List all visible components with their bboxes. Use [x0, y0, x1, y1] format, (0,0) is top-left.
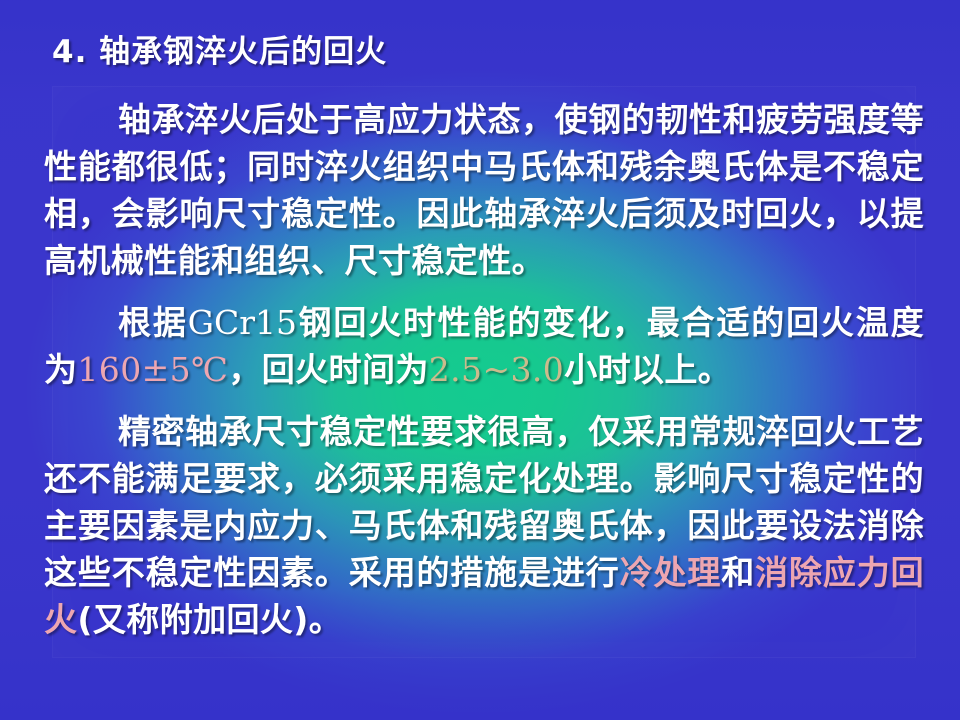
highlighted-text-run: 160±5℃: [77, 350, 228, 389]
text-run: 和: [721, 553, 755, 592]
text-run: 轴承淬火后处于高应力状态，使钢的韧性和疲劳强度等性能都很低；同时淬火组织中马氏体…: [44, 100, 924, 280]
slide-stage: 4. 轴承钢淬火后的回火 轴承淬火后处于高应力状态，使钢的韧性和疲劳强度等性能都…: [0, 0, 960, 720]
highlighted-text-run: GCr15: [188, 303, 297, 342]
text-run: 小时以上。: [564, 350, 731, 389]
slide-body: 轴承淬火后处于高应力状态，使钢的韧性和疲劳强度等性能都很低；同时淬火组织中马氏体…: [44, 96, 924, 643]
presentation-slide: 4. 轴承钢淬火后的回火 轴承淬火后处于高应力状态，使钢的韧性和疲劳强度等性能都…: [0, 0, 960, 720]
text-run: (又称附加回火)。: [77, 600, 342, 639]
slide-title: 4. 轴承钢淬火后的回火: [52, 26, 387, 71]
highlighted-text-run: 冷处理: [620, 553, 722, 592]
body-paragraph-1: 轴承淬火后处于高应力状态，使钢的韧性和疲劳强度等性能都很低；同时淬火组织中马氏体…: [44, 96, 924, 284]
highlighted-text-run: 2.5~3.0: [429, 350, 564, 389]
body-paragraph-3: 精密轴承尺寸稳定性要求很高，仅采用常规淬回火工艺还不能满足要求，必须采用稳定化处…: [44, 408, 924, 643]
text-run: ，回火时间为: [228, 350, 428, 389]
text-run: 根据: [118, 303, 188, 342]
body-paragraph-2: 根据GCr15钢回火时性能的变化，最合适的回火温度为160±5℃，回火时间为2.…: [44, 299, 924, 393]
